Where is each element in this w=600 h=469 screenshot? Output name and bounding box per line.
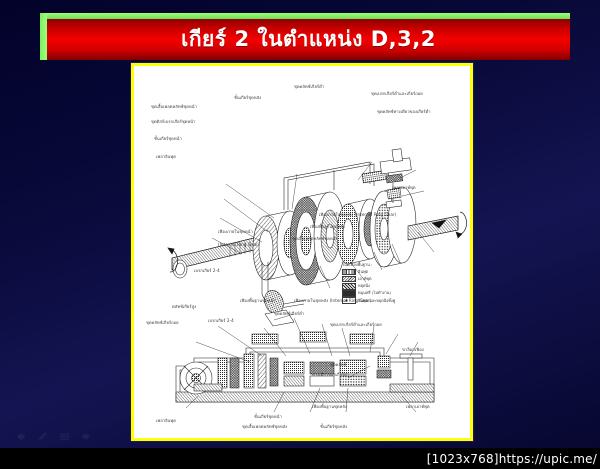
diagram-label-u6: ชุดคลัทช์เกียร์ต่ำ — [294, 84, 324, 89]
diagram-label-u3: ชั้นเกียร์ชุดหน้า — [154, 136, 182, 141]
diagram-label-l2: ชุดคลัทช์เกียร์ถอย — [146, 320, 179, 325]
diagram-label-u10: เฟืองภายในชุดหลัง (Internal Ring Gear) — [319, 212, 396, 217]
diagram-image-frame[interactable]: ชุดเสื้อเพลตคลัทช์ชุดหน้า ชุดดิสก์เบรกเก… — [131, 63, 473, 441]
legend-item: เอาท์พุต — [342, 276, 395, 283]
legend-label: หยุดนิ่ง — [358, 283, 370, 289]
diagram-label-u8: ชุดคลัทช์ทางเดียวของเกียร์ต่ำ — [377, 109, 431, 114]
diagram-label-u1: ชุดเสื้อเพลตคลัทช์ชุดหน้า — [151, 104, 197, 109]
legend-swatch-cross-hatch-icon — [342, 283, 356, 290]
watermark-text: [1023x768]https://upic.me/ — [427, 452, 600, 466]
diagram-label-l10: ทางเดียวของเกียร์ต่ำ — [312, 372, 349, 377]
legend-swatch-solid-black-icon — [342, 290, 356, 297]
diagram-label-u2: ชุดดิสก์เบรกเกียร์ชุดหน้า — [151, 119, 195, 124]
legend-item: หยุดนิ่ง — [342, 283, 395, 290]
diagram-label-l16: ชั้นเกียร์ชุดหลัง — [320, 424, 347, 429]
diagram-label-l3: เบรกเกียร์ 2-4 — [208, 318, 234, 323]
diagram-image: ชุดเสื้อเพลตคลัทช์ชุดหน้า ชุดดิสก์เบรกเก… — [134, 66, 470, 438]
legend-item: อินพุต — [342, 269, 395, 276]
forward-arrow-icon[interactable] — [80, 430, 93, 443]
diagram-label-u4: เพลาอินพุต — [156, 154, 176, 159]
legend-label: หมุนฟรี (ไม่ทำงาน) — [358, 290, 391, 296]
diagram-label-l4: เฟืองพื้นฐานชุดหน้า — [240, 298, 276, 303]
page-title: เกียร์ 2 ในตำแหน่ง D,3,2 — [181, 29, 436, 50]
diagram-label-u13: เฟืองภายในชุดหน้า — [218, 229, 253, 234]
title-bar: เกียร์ 2 ในตำแหน่ง D,3,2 — [47, 19, 570, 60]
diagram-label-l8: ขาล็อกเฟือง — [402, 347, 424, 352]
diagram-label-l7: ชุดเบรกเกียร์ต่ำและเกียร์ถอย — [330, 322, 382, 327]
diagram-label-l14: ชั้นเกียร์ชุดหน้า — [254, 414, 282, 419]
list-icon[interactable] — [58, 430, 71, 443]
diagram-label-u15: เบรกเกียร์ 2-4 — [194, 268, 220, 273]
legend-item: หมุนฟรี (ไม่ทำงาน) — [342, 290, 395, 297]
diagram-label-l12: เพลาเอาท์พุต — [406, 404, 430, 409]
pencil-icon[interactable] — [36, 430, 49, 443]
legend-swatch-hatch-vertical-icon — [342, 269, 356, 276]
diagram-label-u12: ชุดเสื้อเพลตคลัทช์ชุดหลัง — [292, 236, 337, 241]
diagram-label-l11: เฟืองพื้นฐานชุดหลัง — [312, 404, 347, 409]
legend-label: เอาท์พุต — [358, 276, 372, 282]
diagram-label-l13: เพลาอินพุต — [156, 418, 176, 423]
legend-title: โน้ตเฟืองพื้นฐาน : — [342, 262, 395, 268]
diagram-label-u9: เพลาเอาท์พุต — [392, 185, 416, 190]
legend-swatch-hatch-diagonal-icon — [342, 276, 356, 283]
diagram-label-l15: ชุดเสื้อเพลตคลัทช์ชุดหลัง — [242, 424, 287, 429]
diagram-label-u14: (Internal Ring Gear) — [218, 242, 260, 247]
title-border-left — [40, 13, 47, 60]
diagram-label-u5: ชั้นเกียร์ชุดหลัง — [234, 95, 261, 100]
diagram-label-l5: เฟืองภายในชุดหลัง (Internal Ring Gear) — [294, 298, 371, 303]
legend-label: อินพุต — [358, 269, 368, 275]
viewer-toolbar — [0, 424, 210, 448]
watermark-bar: [1023x768]https://upic.me/ — [0, 448, 600, 469]
diagram-label-u7: ชุดเบรกเกียร์ต่ำและเกียร์ถอย — [371, 91, 423, 96]
diagram-label-l1: คลัทช์เกียร์สูง — [172, 304, 196, 309]
diagram-label-l6: ชุดคลัทช์เกียร์ต่ำ — [274, 311, 304, 316]
back-arrow-icon[interactable] — [14, 430, 27, 443]
diagram-label-l9: ชุดคลัทช์ — [330, 362, 346, 367]
diagram-label-u11: เฟืองพื้นฐานชุดหลัง — [310, 224, 345, 229]
title-banner: เกียร์ 2 ในตำแหน่ง D,3,2 — [40, 13, 570, 60]
slide-canvas: เกียร์ 2 ในตำแหน่ง D,3,2 — [0, 0, 600, 469]
